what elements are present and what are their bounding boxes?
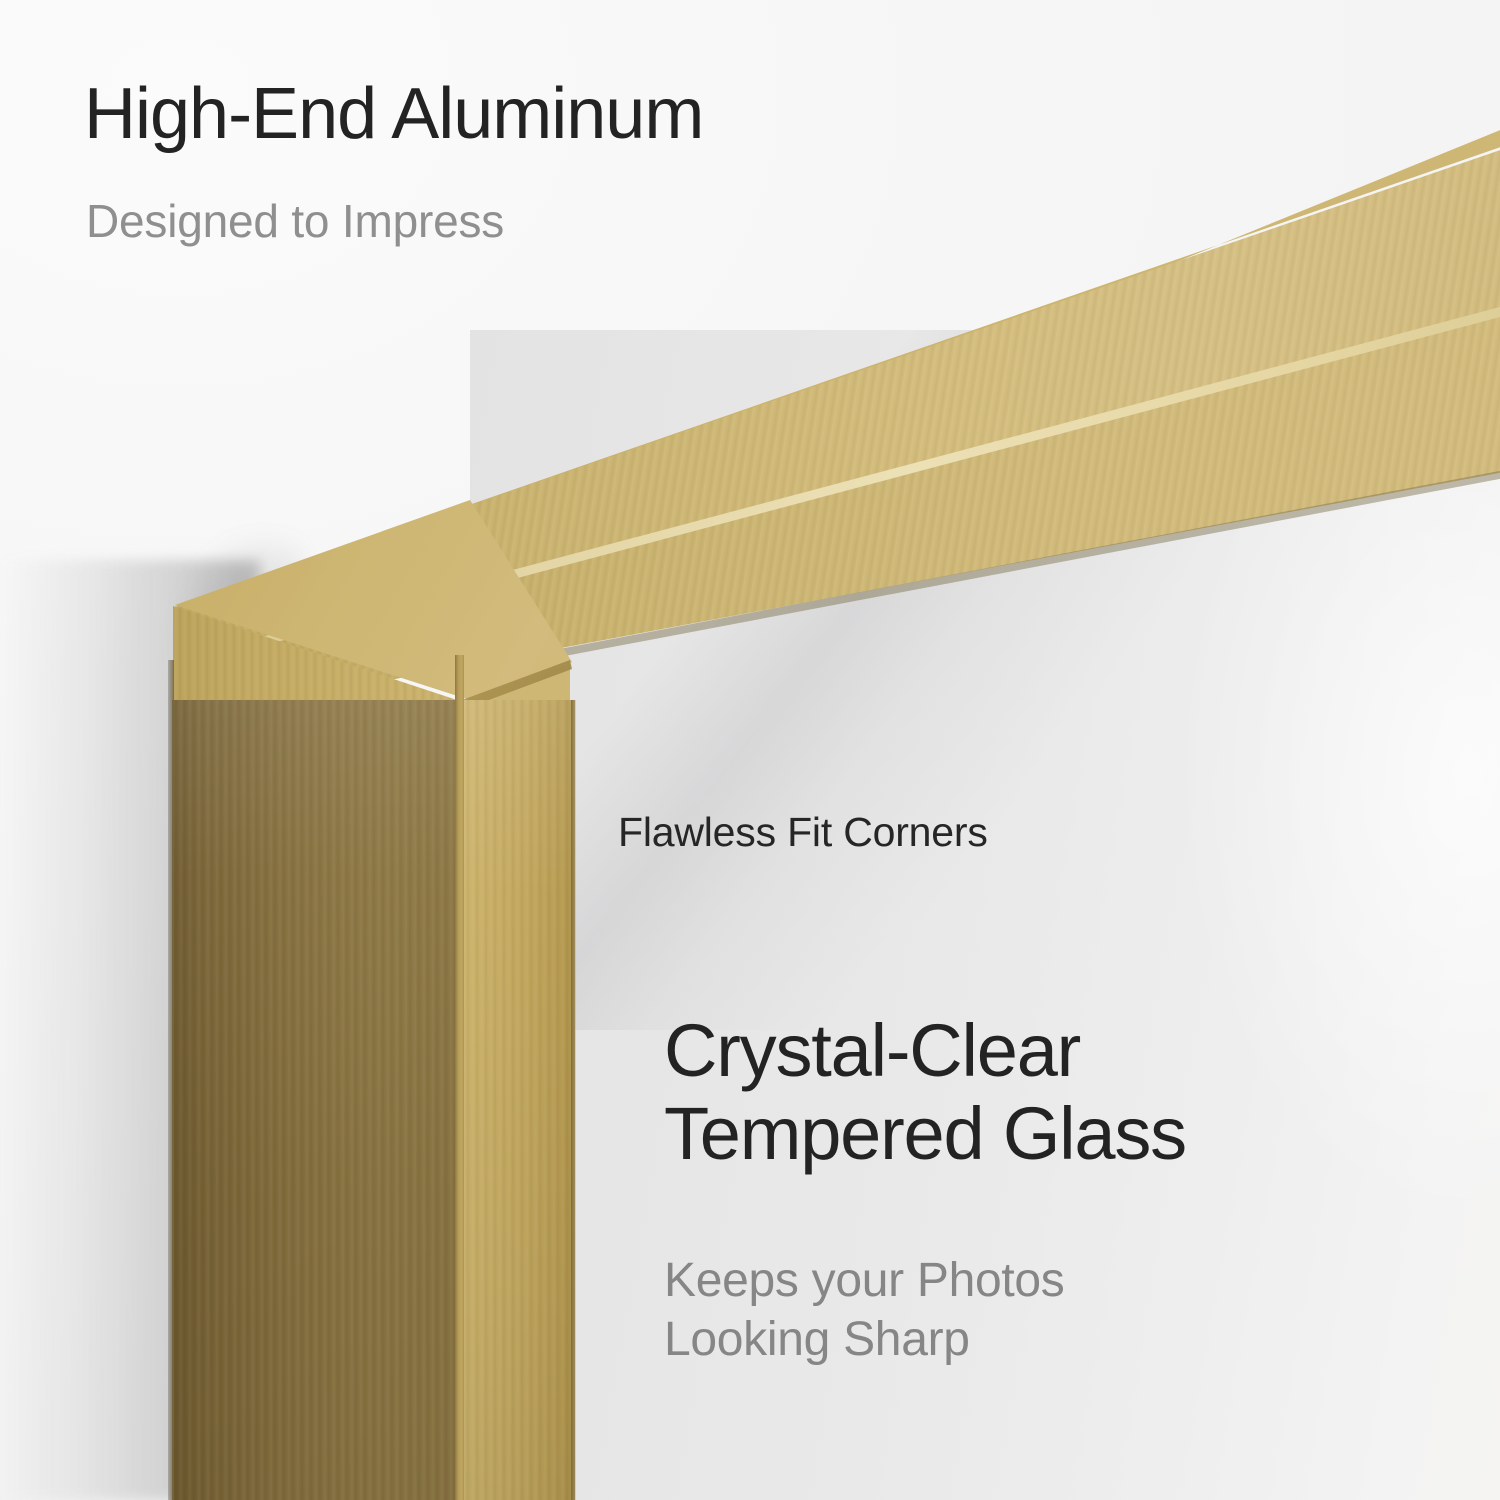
page-title: High-End Aluminum xyxy=(84,78,703,150)
frame-left-rail-glass-edge xyxy=(571,700,576,1500)
product-feature-image: High-End Aluminum Designed to Impress Fl… xyxy=(0,0,1500,1500)
callout-flawless-fit-corners: Flawless Fit Corners xyxy=(618,812,988,853)
callout-glass-sub-line-1: Keeps your Photos xyxy=(664,1252,1065,1311)
callout-glass-title-line-1: Crystal-Clear xyxy=(664,1010,1186,1093)
callout-glass-title-line-2: Tempered Glass xyxy=(664,1093,1186,1176)
page-subtitle: Designed to Impress xyxy=(86,198,504,244)
frame-left-rail-inner-shading xyxy=(464,700,575,1500)
callout-tempered-glass-subtitle: Keeps your Photos Looking Sharp xyxy=(664,1252,1065,1369)
frame-corner-vertical-arris xyxy=(455,655,464,1500)
callout-glass-sub-line-2: Looking Sharp xyxy=(664,1311,1065,1370)
callout-tempered-glass-title: Crystal-Clear Tempered Glass xyxy=(664,1010,1186,1176)
frame-left-outer-outline xyxy=(168,660,174,1500)
frame-left-rail-shading xyxy=(172,700,460,1500)
